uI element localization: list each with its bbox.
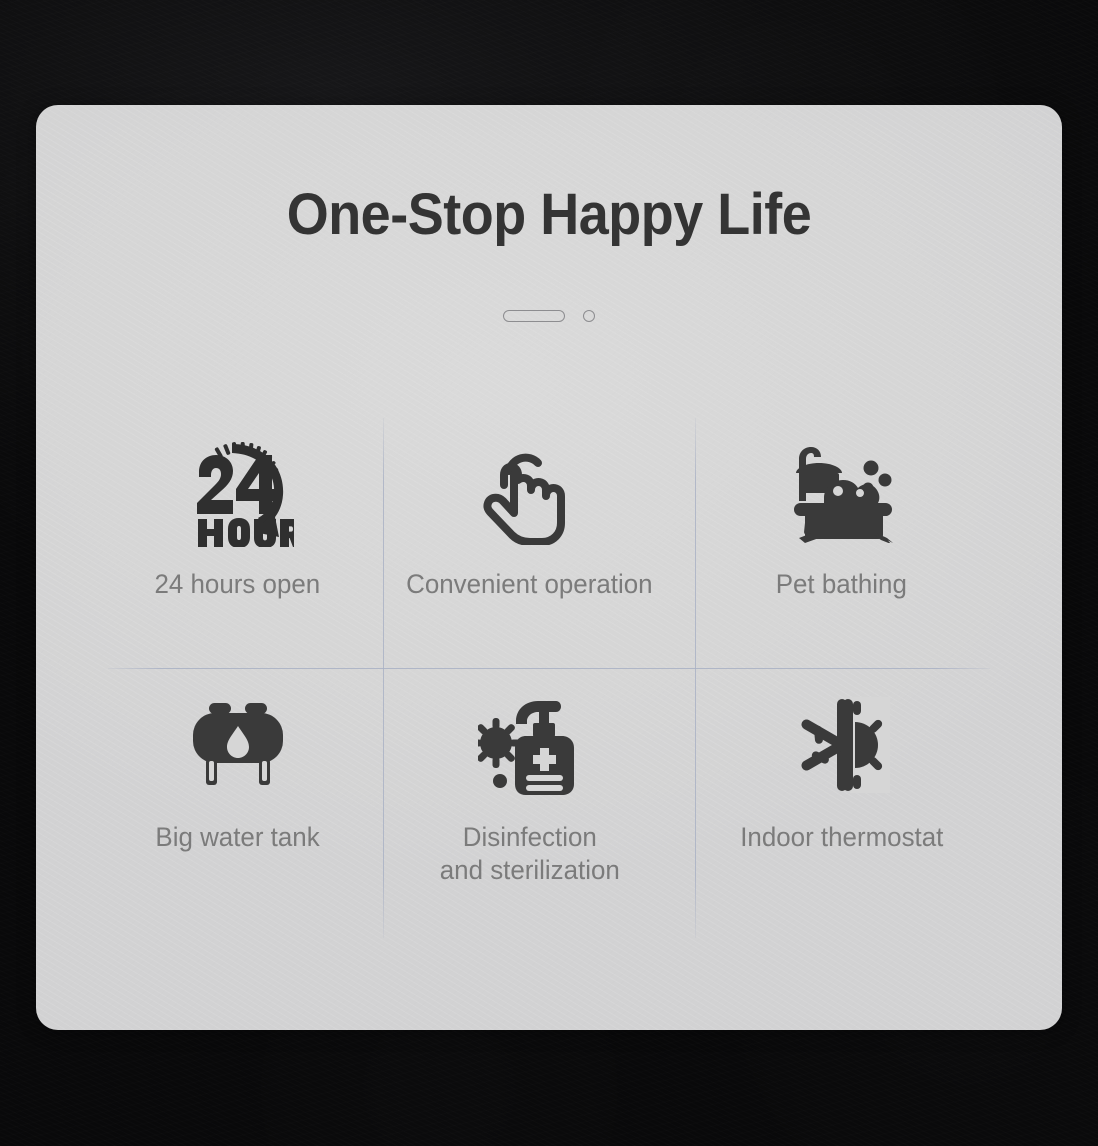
icon-container: [480, 418, 580, 568]
feature-item-pet-bathing[interactable]: Pet bathing: [696, 418, 987, 668]
title-ornament: [36, 310, 1062, 322]
icon-container: [788, 418, 896, 568]
24-hours-clock-icon: [182, 439, 294, 547]
water-tank-icon: [184, 703, 292, 787]
feature-label: Disinfection and sterilization: [439, 821, 619, 887]
feature-label: Convenient operation: [406, 568, 652, 601]
feature-label: 24 hours open: [155, 568, 321, 601]
page-title: One-Stop Happy Life: [72, 181, 1026, 248]
feature-card: One-Stop Happy Life: [36, 105, 1062, 1030]
icon-container: [182, 418, 294, 568]
feature-item-indoor-thermostat[interactable]: Indoor thermostat: [696, 669, 987, 919]
icon-container: [184, 669, 292, 821]
feature-item-disinfection[interactable]: Disinfection and sterilization: [384, 669, 675, 919]
icon-container: [794, 669, 890, 821]
feature-label: Pet bathing: [776, 568, 907, 601]
page-background: One-Stop Happy Life: [0, 0, 1098, 1146]
snowflake-sun-icon: [794, 697, 890, 793]
feature-label: Big water tank: [155, 821, 319, 854]
sanitizer-bottle-icon: [478, 693, 582, 797]
pill-outline-icon: [503, 310, 565, 322]
feature-item-24-hours-open[interactable]: 24 hours open: [92, 418, 383, 668]
tap-hand-icon: [480, 441, 580, 545]
feature-label: Indoor thermostat: [740, 821, 943, 854]
feature-item-big-water-tank[interactable]: Big water tank: [92, 669, 383, 919]
circle-outline-icon: [583, 310, 595, 322]
pet-bathtub-icon: [788, 443, 896, 543]
feature-item-convenient-operation[interactable]: Convenient operation: [384, 418, 675, 668]
feature-grid: 24 hours open Convenient operation: [92, 418, 1006, 938]
icon-container: [478, 669, 582, 821]
